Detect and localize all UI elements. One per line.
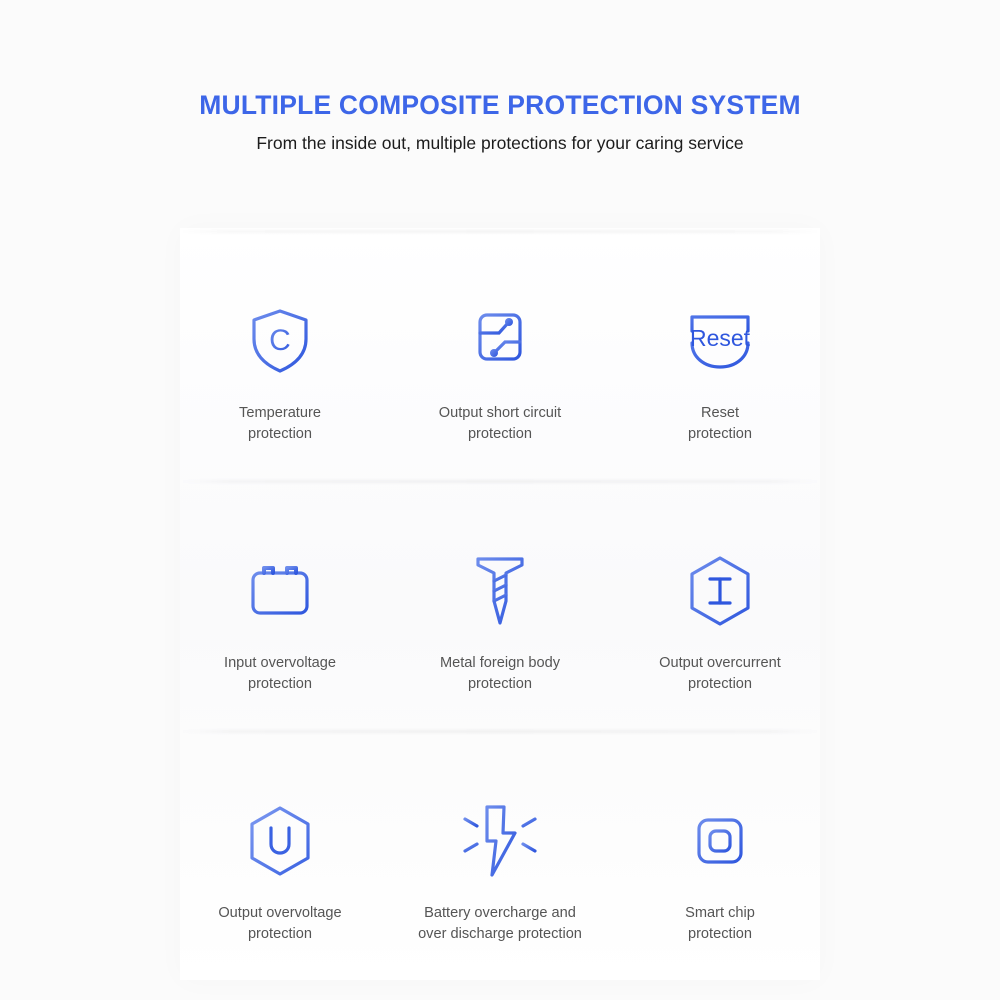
feature-item-output-overcurrent-protection: Output overcurrent protection — [610, 499, 830, 749]
feature-label: Output short circuit protection — [439, 403, 561, 445]
feature-label: Smart chip protection — [685, 903, 755, 945]
protection-feature-grid: C Temperature protection — [170, 249, 830, 999]
section-divider-top — [180, 230, 820, 233]
feature-item-temperature-protection: C Temperature protection — [170, 249, 390, 499]
feature-label: Output overvoltage protection — [218, 903, 341, 945]
lightning-bolt-icon — [458, 799, 542, 883]
feature-item-metal-foreign-body-protection: Metal foreign body protection — [390, 499, 610, 749]
screw-icon — [458, 549, 542, 633]
hexagon-u-icon — [238, 799, 322, 883]
feature-item-output-overvoltage-protection: Output overvoltage protection — [170, 749, 390, 999]
page-title: MULTIPLE COMPOSITE PROTECTION SYSTEM — [0, 90, 1000, 122]
feature-item-reset-protection: Reset Reset protection — [610, 249, 830, 499]
feature-label: Reset protection — [688, 403, 752, 445]
feature-item-battery-overcharge-protection: Battery overcharge and over discharge pr… — [390, 749, 610, 999]
battery-plus-minus-icon — [238, 549, 322, 633]
shield-reset-text: Reset — [690, 325, 751, 351]
feature-item-input-overvoltage-protection: Input overvoltage protection — [170, 499, 390, 749]
feature-item-output-short-circuit-protection: Output short circuit protection — [390, 249, 610, 499]
shield-reset-icon: Reset — [678, 299, 762, 383]
circuit-chip-icon — [458, 299, 542, 383]
feature-item-smart-chip-protection: Smart chip protection — [610, 749, 830, 999]
feature-label: Battery overcharge and over discharge pr… — [418, 903, 582, 945]
cpu-chip-icon — [678, 799, 762, 883]
feature-label: Temperature protection — [239, 403, 321, 445]
feature-label: Metal foreign body protection — [440, 653, 560, 695]
page-subtitle: From the inside out, multiple protection… — [0, 132, 1000, 155]
feature-label: Input overvoltage protection — [224, 653, 336, 695]
shield-c-letter: C — [269, 324, 291, 357]
shield-c-icon: C — [238, 299, 322, 383]
page-header: MULTIPLE COMPOSITE PROTECTION SYSTEM Fro… — [0, 0, 1000, 155]
hexagon-i-icon — [678, 549, 762, 633]
feature-label: Output overcurrent protection — [659, 653, 781, 695]
